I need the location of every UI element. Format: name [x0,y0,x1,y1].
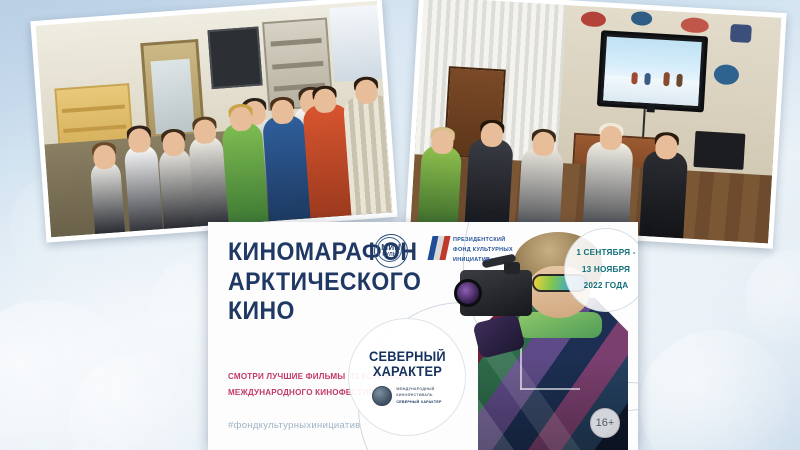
video-camera-icon [460,270,532,316]
person-child [418,145,463,225]
presidential-fund-line-1: ПРЕЗИДЕНТСКИЙ [453,235,513,245]
wall-decoration [730,24,753,43]
television-screen [597,30,709,113]
mincult-logo-line-2: КУЛЬТ [374,252,408,258]
poster-title: КИНОМАРАФОН АРКТИЧЕСКОГО КИНО [228,238,458,327]
person-child [582,141,633,236]
window [329,5,382,82]
mincult-logo-icon: МИН КУЛЬТ [374,234,408,268]
event-date-line-1: 1 СЕНТЯБРЯ - [576,245,635,261]
computer-monitor [694,130,746,169]
film-festival-poster: КИНОМАРАФОН АРКТИЧЕСКОГО КИНО СМОТРИ ЛУЧ… [208,222,638,450]
event-date-line-3: 2022 ГОДА [584,278,629,294]
globe-icon [372,386,392,406]
person-child [123,143,162,231]
event-date-line-2: 13 НОЯБРЯ [582,262,630,278]
person-child [639,150,688,238]
person-child [343,94,393,215]
severny-kharakter-line-1: СЕВЕРНЫЙ [369,349,446,364]
presidential-fund-line-2: ФОНД КУЛЬТУРНЫХ [453,245,513,255]
presidential-fund-logo: ПРЕЗИДЕНТСКИЙ ФОНД КУЛЬТУРНЫХ ИНИЦИАТИВ [430,232,558,266]
event-dates-badge: 1 СЕНТЯБРЯ - 13 НОЯБРЯ 2022 ГОДА [564,228,638,312]
mincult-logo-line-1: МИН [374,243,408,252]
severny-emblem-line-3: СЕВЕРНЫЙ ХАРАКТЕР [396,399,441,405]
severny-kharakter-badge: СЕВЕРНЫЙ ХАРАКТЕР МЕЖДУНАРОДНЫЙ КИНОФЕСТ… [348,318,466,436]
poster-hashtag: #фондкультурныхинициатив [228,420,361,431]
photo-children-watching-tv [405,0,786,249]
person-child [90,160,125,234]
presidential-fund-line-3: ИНИЦИАТИВ [453,255,513,265]
person-child [518,147,565,231]
person-child [464,138,513,228]
wall-panel [207,26,263,89]
photo-children-library [30,0,397,243]
tricolor-mark-icon [430,236,448,260]
severny-kharakter-line-2: ХАРАКТЕР [372,364,441,379]
poster-title-line-2: АРКТИЧЕСКОГО [228,268,440,298]
age-rating-badge: 16+ [590,408,620,438]
person-child [221,122,268,225]
